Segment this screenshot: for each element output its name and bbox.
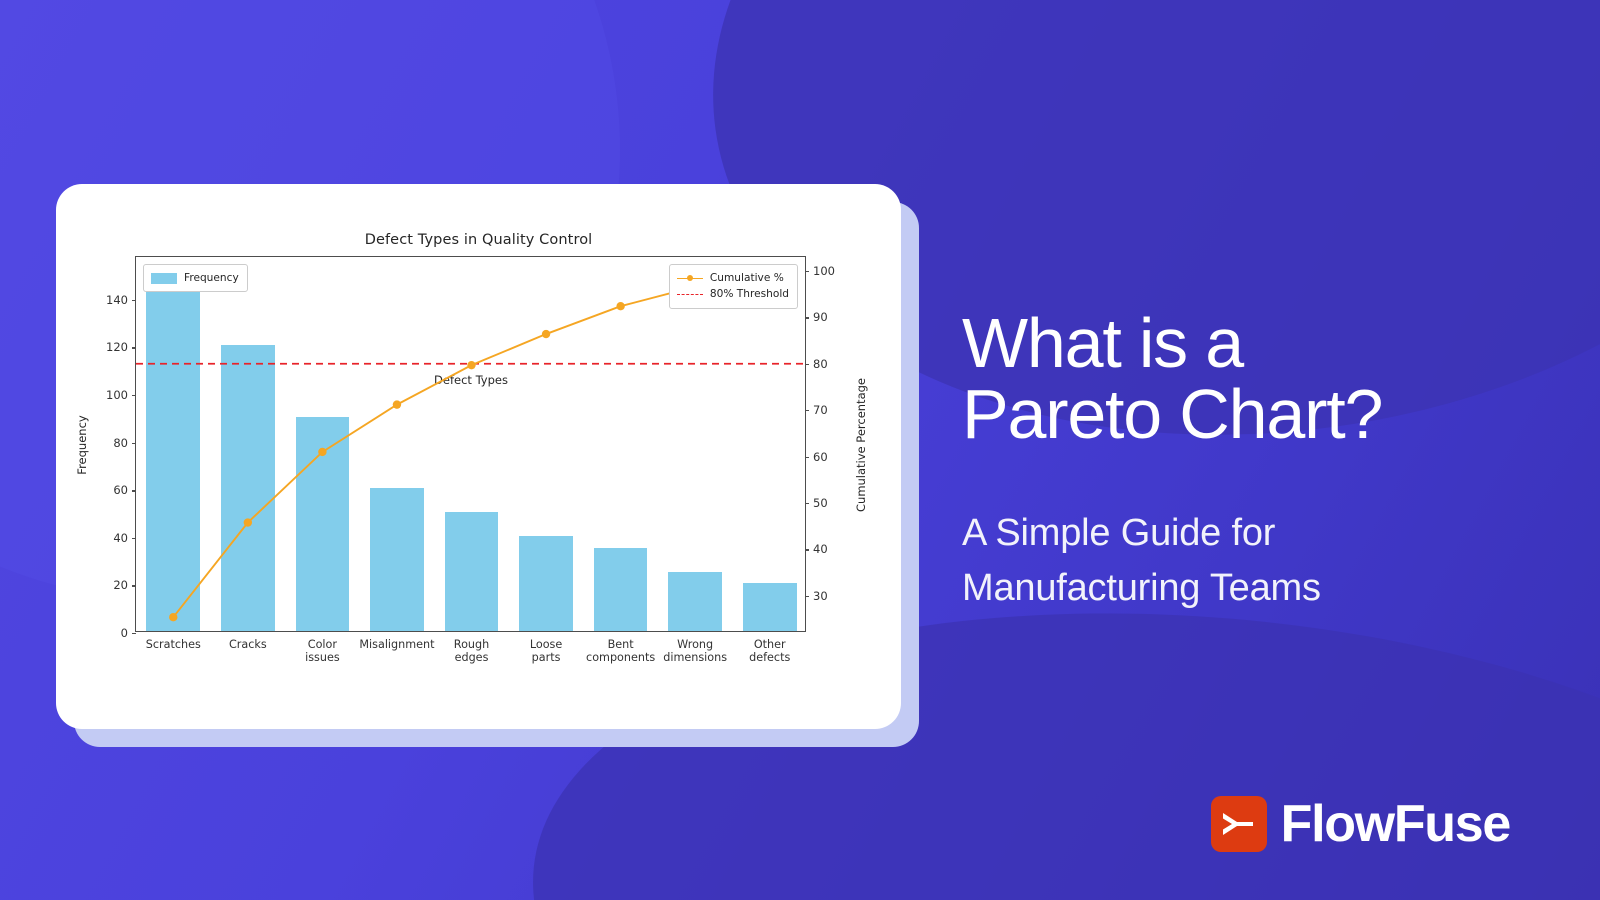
cumulative-marker <box>616 302 624 310</box>
legend-swatch-line-marker-icon <box>677 273 703 284</box>
x-tick-label: Color issues <box>305 638 340 664</box>
y-tick-label-left: 80 <box>113 436 128 450</box>
chart-card: Defect Types in Quality Control Frequenc… <box>56 184 901 729</box>
pareto-figure: Defect Types in Quality Control Frequenc… <box>56 184 901 729</box>
legend-cumulative: Cumulative % 80% Threshold <box>669 264 798 309</box>
x-tick-label: Wrong dimensions <box>663 638 727 664</box>
cumulative-marker <box>467 361 475 369</box>
legend-label-threshold: 80% Threshold <box>710 286 789 302</box>
cumulative-line <box>173 271 769 617</box>
page-subtitle: A Simple Guide for Manufacturing Teams <box>962 506 1582 616</box>
legend-row-cumulative: Cumulative % <box>677 270 789 286</box>
y-tick-label-right: 70 <box>813 403 828 417</box>
y-tick-label-right: 90 <box>813 310 828 324</box>
y-tick-label-left: 100 <box>106 388 128 402</box>
x-tick-label: Bent components <box>586 638 655 664</box>
y-tick-label-right: 30 <box>813 589 828 603</box>
headline-line-1: What is a <box>962 308 1562 379</box>
x-tick-label: Misalignment <box>359 638 434 651</box>
y-tick-label-right: 100 <box>813 264 835 278</box>
legend-label-cumulative: Cumulative % <box>710 270 784 286</box>
cumulative-marker <box>393 400 401 408</box>
cumulative-marker <box>244 518 252 526</box>
y-tick-label-left: 40 <box>113 531 128 545</box>
x-tick-label: Rough edges <box>454 638 489 664</box>
flowfuse-logo: FlowFuse <box>1211 796 1510 852</box>
cumulative-marker <box>169 613 177 621</box>
legend-swatch-bar-icon <box>151 273 177 284</box>
y-tick-label-right: 60 <box>813 450 828 464</box>
cumulative-marker <box>318 448 326 456</box>
y-tick-label-left: 60 <box>113 483 128 497</box>
flowfuse-wordmark: FlowFuse <box>1281 798 1510 850</box>
flowfuse-converge-icon <box>1211 796 1267 852</box>
line-overlay <box>136 257 807 633</box>
legend-frequency: Frequency <box>143 264 248 292</box>
x-tick-label: Loose parts <box>530 638 562 664</box>
legend-row-threshold: 80% Threshold <box>677 286 789 302</box>
x-tick-label: Other defects <box>749 638 790 664</box>
y-tick-label-right: 50 <box>813 496 828 510</box>
y-tick-label-right: 80 <box>813 357 828 371</box>
cumulative-markers <box>169 267 774 622</box>
cumulative-marker <box>542 330 550 338</box>
y-axis-label-left: Frequency <box>75 415 89 474</box>
y-tick-label-left: 20 <box>113 578 128 592</box>
x-tick-label: Cracks <box>229 638 267 651</box>
legend-swatch-dashed-line-icon <box>677 289 703 300</box>
y-axis-label-right: Cumulative Percentage <box>854 378 868 512</box>
plot-inner: Frequency Cumulative Percentage Defect T… <box>136 257 805 631</box>
y-tick-label-left: 120 <box>106 340 128 354</box>
plot-area: Frequency Cumulative Percentage Defect T… <box>135 256 806 632</box>
legend-row-frequency: Frequency <box>151 270 239 286</box>
page-title: What is a Pareto Chart? <box>962 308 1562 451</box>
y-tick-mark-left <box>132 633 136 634</box>
poster-canvas: Defect Types in Quality Control Frequenc… <box>0 0 1600 900</box>
headline-line-2: Pareto Chart? <box>962 379 1562 450</box>
y-tick-label-right: 40 <box>813 542 828 556</box>
y-tick-label-left: 0 <box>121 626 128 640</box>
legend-label-frequency: Frequency <box>184 270 239 286</box>
subhead-line-1: A Simple Guide for <box>962 506 1582 561</box>
y-tick-label-left: 140 <box>106 293 128 307</box>
x-tick-label: Scratches <box>146 638 201 651</box>
subhead-line-2: Manufacturing Teams <box>962 561 1582 616</box>
chart-title: Defect Types in Quality Control <box>56 232 901 248</box>
